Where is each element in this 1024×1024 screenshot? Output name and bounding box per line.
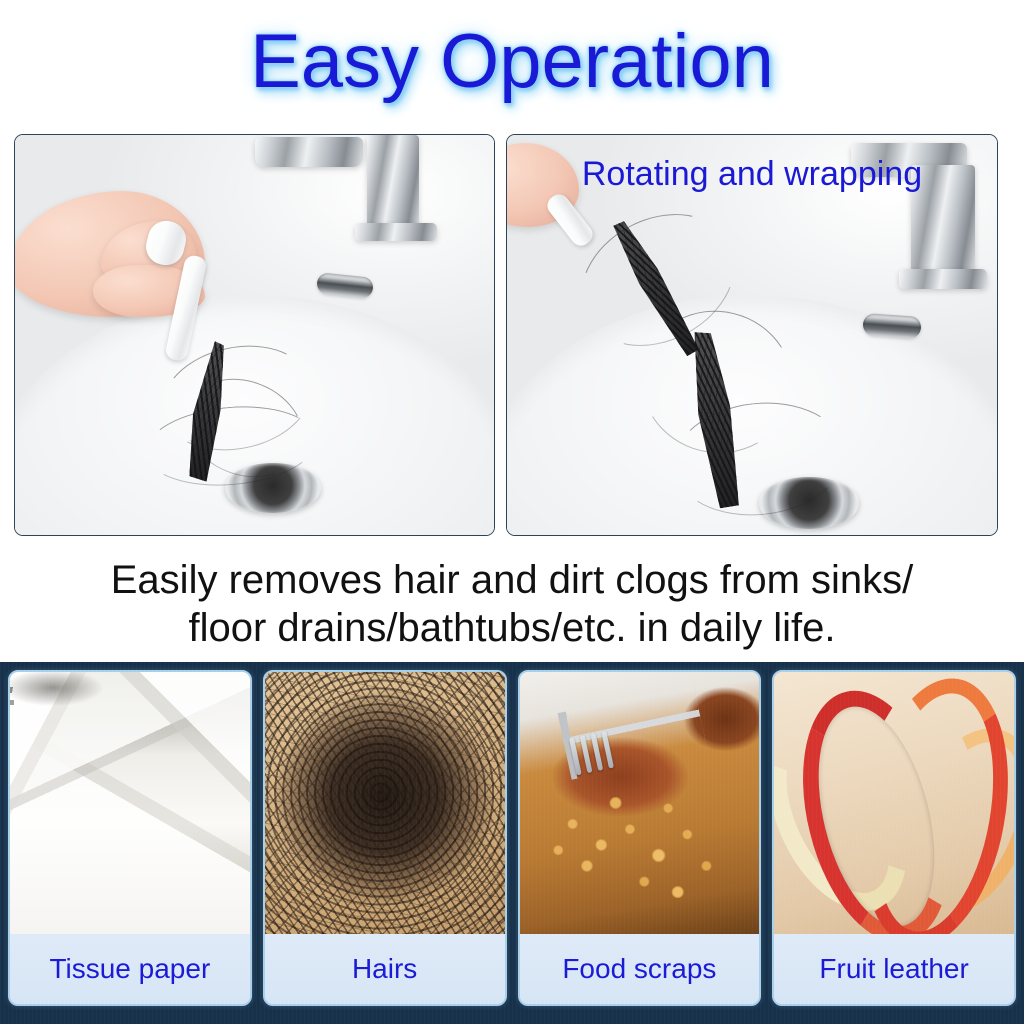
faucet-column	[911, 165, 975, 275]
faucet-column	[367, 135, 419, 231]
card-label: Fruit leather	[774, 934, 1014, 1004]
fork-tine	[601, 731, 614, 769]
sink-scene-image	[507, 135, 997, 535]
description-line-2: floor drains/bathtubs/etc. in daily life…	[0, 604, 1024, 652]
description-text: Easily removes hair and dirt clogs from …	[0, 556, 1024, 652]
page-title: Easy Operation	[250, 18, 774, 105]
overflow-slot	[862, 313, 921, 339]
card-label: Hairs	[265, 934, 505, 1004]
overflow-slot	[316, 272, 374, 299]
food-scraps-image	[520, 672, 760, 934]
faucet-base	[355, 223, 437, 241]
card-label: Food scraps	[520, 934, 760, 1004]
tissue-paper-image	[10, 672, 250, 934]
use-case-card-hairs[interactable]: Hairs	[263, 670, 507, 1006]
photo-panel-inserting	[14, 134, 495, 536]
hairs-image	[265, 672, 505, 934]
photo-panel-rotating: Rotating and wrapping	[506, 134, 998, 536]
faucet-spout	[255, 137, 363, 167]
faucet-base	[899, 269, 987, 289]
fruit-leather-image	[774, 672, 1014, 934]
use-case-card-group: Tissue paper Hairs Food scraps	[8, 670, 1016, 1010]
use-case-card-fruit-leather[interactable]: Fruit leather	[772, 670, 1016, 1006]
title-band: Easy Operation	[0, 0, 1024, 122]
top-photo-panel-group: Rotating and wrapping	[14, 134, 1010, 536]
description-line-1: Easily removes hair and dirt clogs from …	[0, 556, 1024, 604]
use-case-card-tissue-paper[interactable]: Tissue paper	[8, 670, 252, 1006]
use-cases-section: Tissue paper Hairs Food scraps	[0, 662, 1024, 1024]
tissue-paper-texture	[10, 672, 250, 934]
fork-tine	[579, 736, 592, 774]
use-case-card-food-scraps[interactable]: Food scraps	[518, 670, 762, 1006]
card-label: Tissue paper	[10, 934, 250, 1004]
fork-tine	[590, 733, 603, 771]
fork-tine	[568, 738, 581, 776]
sink-scene-image	[15, 135, 494, 535]
hair-clump-texture	[265, 672, 505, 934]
